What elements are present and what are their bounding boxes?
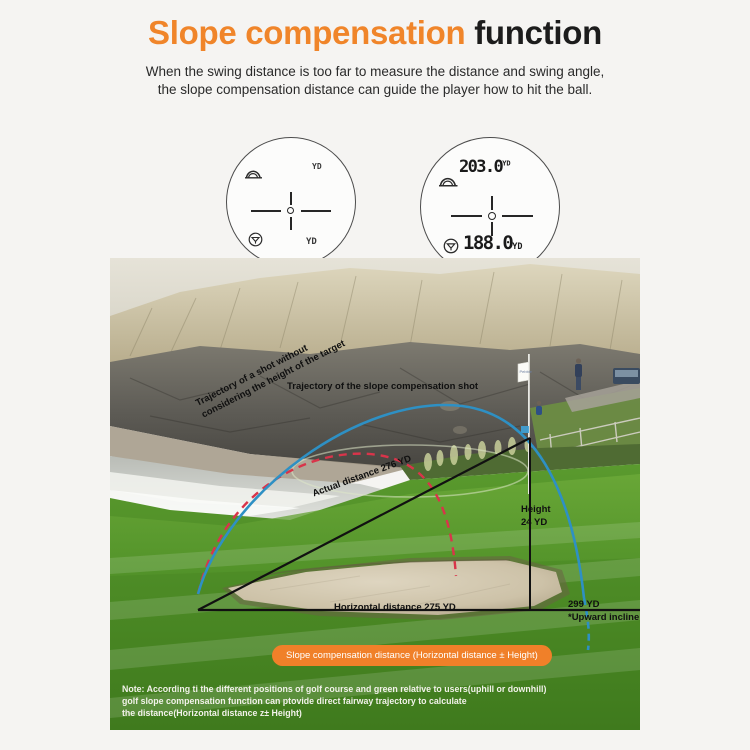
header: Slope compensation function When the swi… — [0, 0, 750, 120]
label-incline: 299 YD *Upward incline — [568, 598, 639, 624]
scope-b-top-value: 203.0 — [459, 157, 502, 177]
scope-a-unit-top: YD — [312, 162, 322, 171]
label-horizontal-distance: Horizontal distance 275 YD — [334, 602, 456, 613]
slope-compensation-badge: Slope compensation distance (Horizontal … — [272, 645, 552, 666]
label-height: Height 24 YD — [521, 503, 551, 529]
slope-arc-icon — [245, 166, 265, 179]
slope-arc-icon — [439, 173, 461, 187]
page-root: Slope compensation function When the swi… — [0, 0, 750, 750]
footer-note: Note: According ti the different positio… — [122, 684, 546, 719]
page-title-highlight: Slope compensation — [148, 14, 465, 51]
rangefinder-scope-empty: YD YD — [226, 137, 356, 267]
label-trajectory-slope: Trajectory of the slope compensation sho… — [287, 381, 478, 392]
label-height-value: 24 YD — [521, 516, 551, 529]
target-elevation-icon — [443, 238, 459, 254]
label-incline-note: *Upward incline — [568, 611, 639, 624]
crosshair-b — [451, 196, 533, 236]
label-height-title: Height — [521, 503, 551, 516]
footer-note-line-2: golf slope compensation function can pto… — [122, 696, 546, 708]
scope-b-top-reading: 203.0YD — [459, 157, 511, 177]
page-title: Slope compensation function — [0, 14, 750, 52]
footer-note-line-1: Note: According ti the different positio… — [122, 684, 546, 696]
footer-note-line-3: the distance(Horizontal distance z± Heig… — [122, 708, 546, 720]
target-elevation-icon — [248, 232, 263, 247]
crosshair-a — [251, 192, 331, 230]
person-crouching — [536, 401, 542, 415]
svg-text:Pebble: Pebble — [520, 369, 533, 374]
scope-a-unit-bottom: YD — [306, 237, 317, 247]
scope-b-bottom-reading: 188.0YD — [463, 232, 522, 254]
label-incline-value: 299 YD — [568, 598, 639, 611]
scope-b-top-unit: YD — [502, 159, 510, 167]
page-title-rest: function — [474, 14, 602, 51]
scope-b-bottom-unit: YD — [512, 242, 522, 252]
scope-b-bottom-value: 188.0 — [463, 232, 512, 254]
page-subtitle: When the swing distance is too far to me… — [0, 63, 750, 99]
subtitle-line-2: the slope compensation distance can guid… — [0, 81, 750, 99]
rangefinder-scope-measured: 203.0YD 188.0YD — [420, 137, 560, 277]
subtitle-line-1: When the swing distance is too far to me… — [0, 63, 750, 81]
